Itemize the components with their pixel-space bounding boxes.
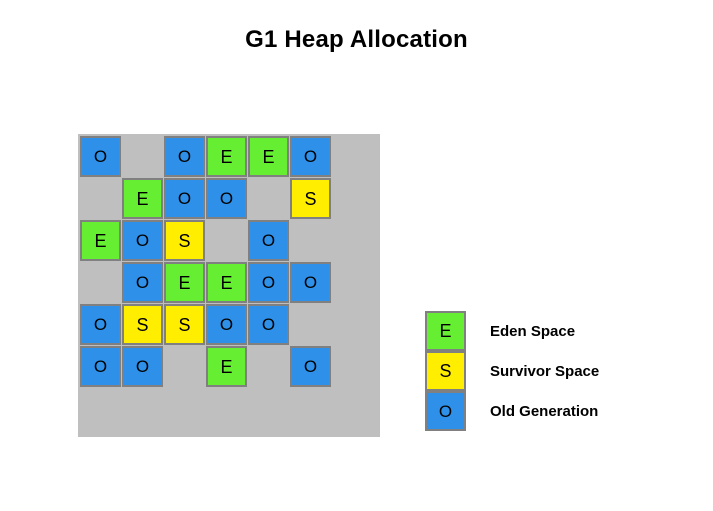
- heap-region-old: O: [290, 262, 331, 303]
- heap-region-eden: E: [248, 136, 289, 177]
- page-title: G1 Heap Allocation: [0, 26, 713, 54]
- legend-label-survivor: Survivor Space: [490, 363, 599, 380]
- heap-region-eden: E: [206, 136, 247, 177]
- heap-region-old: O: [206, 178, 247, 219]
- heap-region-old: O: [290, 136, 331, 177]
- heap-region-eden: E: [206, 346, 247, 387]
- heap-region-grid: OOEEOEOOSEOSOOEEOOOSSOOOOEO: [78, 134, 333, 389]
- heap-region-survivor: S: [164, 220, 205, 261]
- legend-swatch-eden: E: [425, 311, 466, 351]
- heap-region-survivor: S: [290, 178, 331, 219]
- heap-region-old: O: [164, 136, 205, 177]
- heap-region-old: O: [80, 346, 121, 387]
- heap-region-empty: [80, 262, 121, 303]
- heap-region-empty: [80, 178, 121, 219]
- heap-region-survivor: S: [164, 304, 205, 345]
- legend-label-old: Old Generation: [490, 403, 598, 420]
- heap-region-old: O: [248, 220, 289, 261]
- heap-region-old: O: [290, 346, 331, 387]
- legend-item-survivor: SSurvivor Space: [425, 351, 599, 391]
- legend: EEden SpaceSSurvivor SpaceOOld Generatio…: [425, 311, 599, 431]
- legend-label-eden: Eden Space: [490, 323, 575, 340]
- heap-region-old: O: [206, 304, 247, 345]
- heap-region-old: O: [122, 262, 163, 303]
- heap-region-survivor: S: [122, 304, 163, 345]
- heap-region-old: O: [122, 220, 163, 261]
- heap-region-old: O: [80, 136, 121, 177]
- heap-region-eden: E: [164, 262, 205, 303]
- heap-region-empty: [290, 220, 331, 261]
- heap-region-empty: [290, 304, 331, 345]
- legend-swatch-survivor: S: [425, 351, 466, 391]
- heap-region-eden: E: [80, 220, 121, 261]
- heap-region-eden: E: [206, 262, 247, 303]
- heap-region-eden: E: [122, 178, 163, 219]
- heap-region-empty: [206, 220, 247, 261]
- heap-region-empty: [248, 346, 289, 387]
- heap-region-old: O: [248, 304, 289, 345]
- heap-panel: OOEEOEOOSEOSOOEEOOOSSOOOOEO: [78, 134, 380, 437]
- legend-item-old: OOld Generation: [425, 391, 599, 431]
- legend-item-eden: EEden Space: [425, 311, 599, 351]
- heap-region-old: O: [164, 178, 205, 219]
- heap-region-old: O: [80, 304, 121, 345]
- legend-swatch-old: O: [425, 391, 466, 431]
- heap-region-empty: [248, 178, 289, 219]
- heap-region-old: O: [122, 346, 163, 387]
- heap-region-empty: [122, 136, 163, 177]
- heap-region-empty: [164, 346, 205, 387]
- heap-region-old: O: [248, 262, 289, 303]
